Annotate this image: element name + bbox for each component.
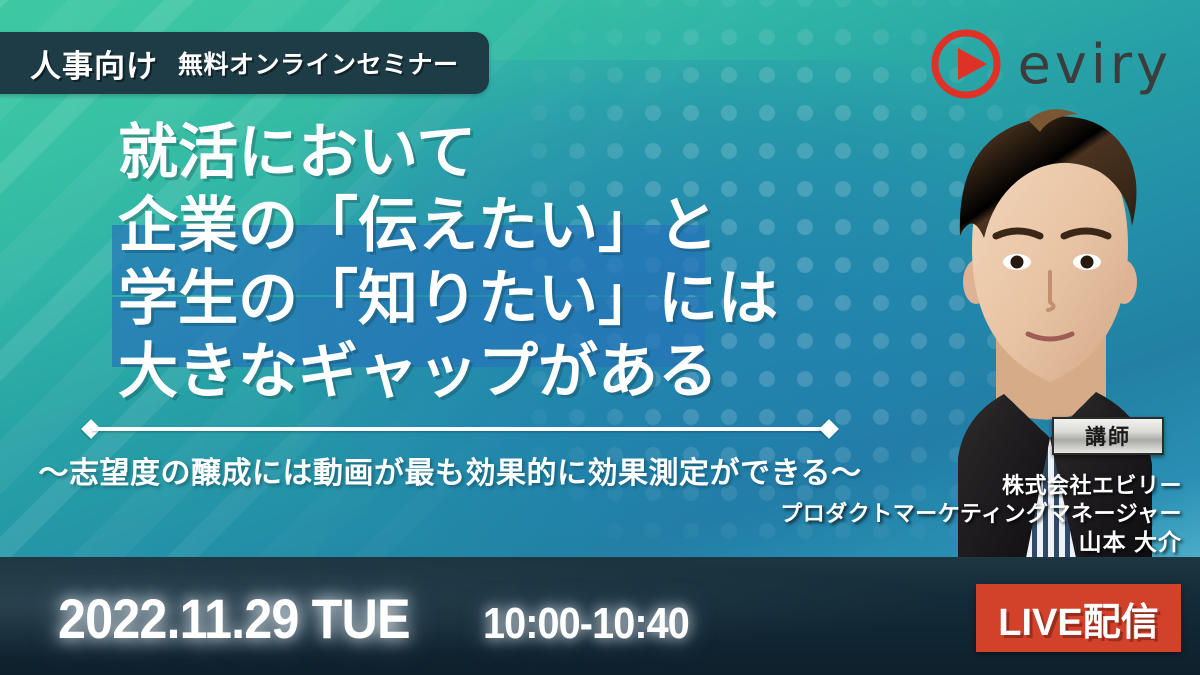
divider-bar — [92, 427, 828, 431]
headline-line-3-text: 学生の「知りたい」には — [118, 265, 778, 332]
live-badge-label: LIVE配信 — [998, 591, 1158, 646]
headline-line-1: 就活において — [118, 118, 898, 187]
speaker-info: 株式会社エビリー プロダクトマーケティングマネージャー 山本 大介 — [780, 472, 1182, 558]
audience-badge: 人事向け 無料オンラインセミナー — [0, 32, 489, 94]
schedule-datetime: 2022.11.29 TUE 10:00-10:40 — [58, 586, 711, 651]
headline-line-3: 学生の「知りたい」には — [118, 264, 898, 333]
schedule-bar: 2022.11.29 TUE 10:00-10:40 LIVE配信 — [0, 557, 1200, 675]
diamond-right-icon — [819, 419, 839, 439]
headline-line-2-text: 企業の「伝えたい」と — [118, 192, 718, 259]
divider — [82, 421, 838, 437]
schedule-date: 2022.11.29 TUE — [58, 586, 410, 651]
speaker-company: 株式会社エビリー — [780, 472, 1182, 500]
lecturer-badge-label: 講師 — [1085, 421, 1131, 451]
headline-line-4: 大きなギャップがある — [118, 337, 898, 406]
lecturer-badge: 講師 — [1052, 417, 1164, 455]
speaker-role: プロダクトマーケティングマネージャー — [780, 500, 1182, 528]
live-badge: LIVE配信 — [976, 584, 1181, 652]
headline-line-4-text: 大きなギャップがある — [118, 338, 718, 405]
headline-line-2: 企業の「伝えたい」と — [118, 191, 898, 260]
headline: 就活において 企業の「伝えたい」と 学生の「知りたい」には 大きなギャップがある — [118, 118, 898, 410]
headline-line-1-text: 就活において — [118, 119, 476, 186]
subtitle: ～志望度の醸成には動画が最も効果的に効果測定ができる～ — [0, 448, 900, 492]
webinar-banner: 人事向け 無料オンラインセミナー eviry 就活において 企業の「伝えたい」と… — [0, 0, 1200, 675]
audience-label: 人事向け — [30, 41, 158, 86]
event-type-label: 無料オンラインセミナー — [178, 45, 459, 81]
speaker-name: 山本 大介 — [780, 528, 1182, 557]
schedule-time: 10:00-10:40 — [483, 599, 689, 649]
